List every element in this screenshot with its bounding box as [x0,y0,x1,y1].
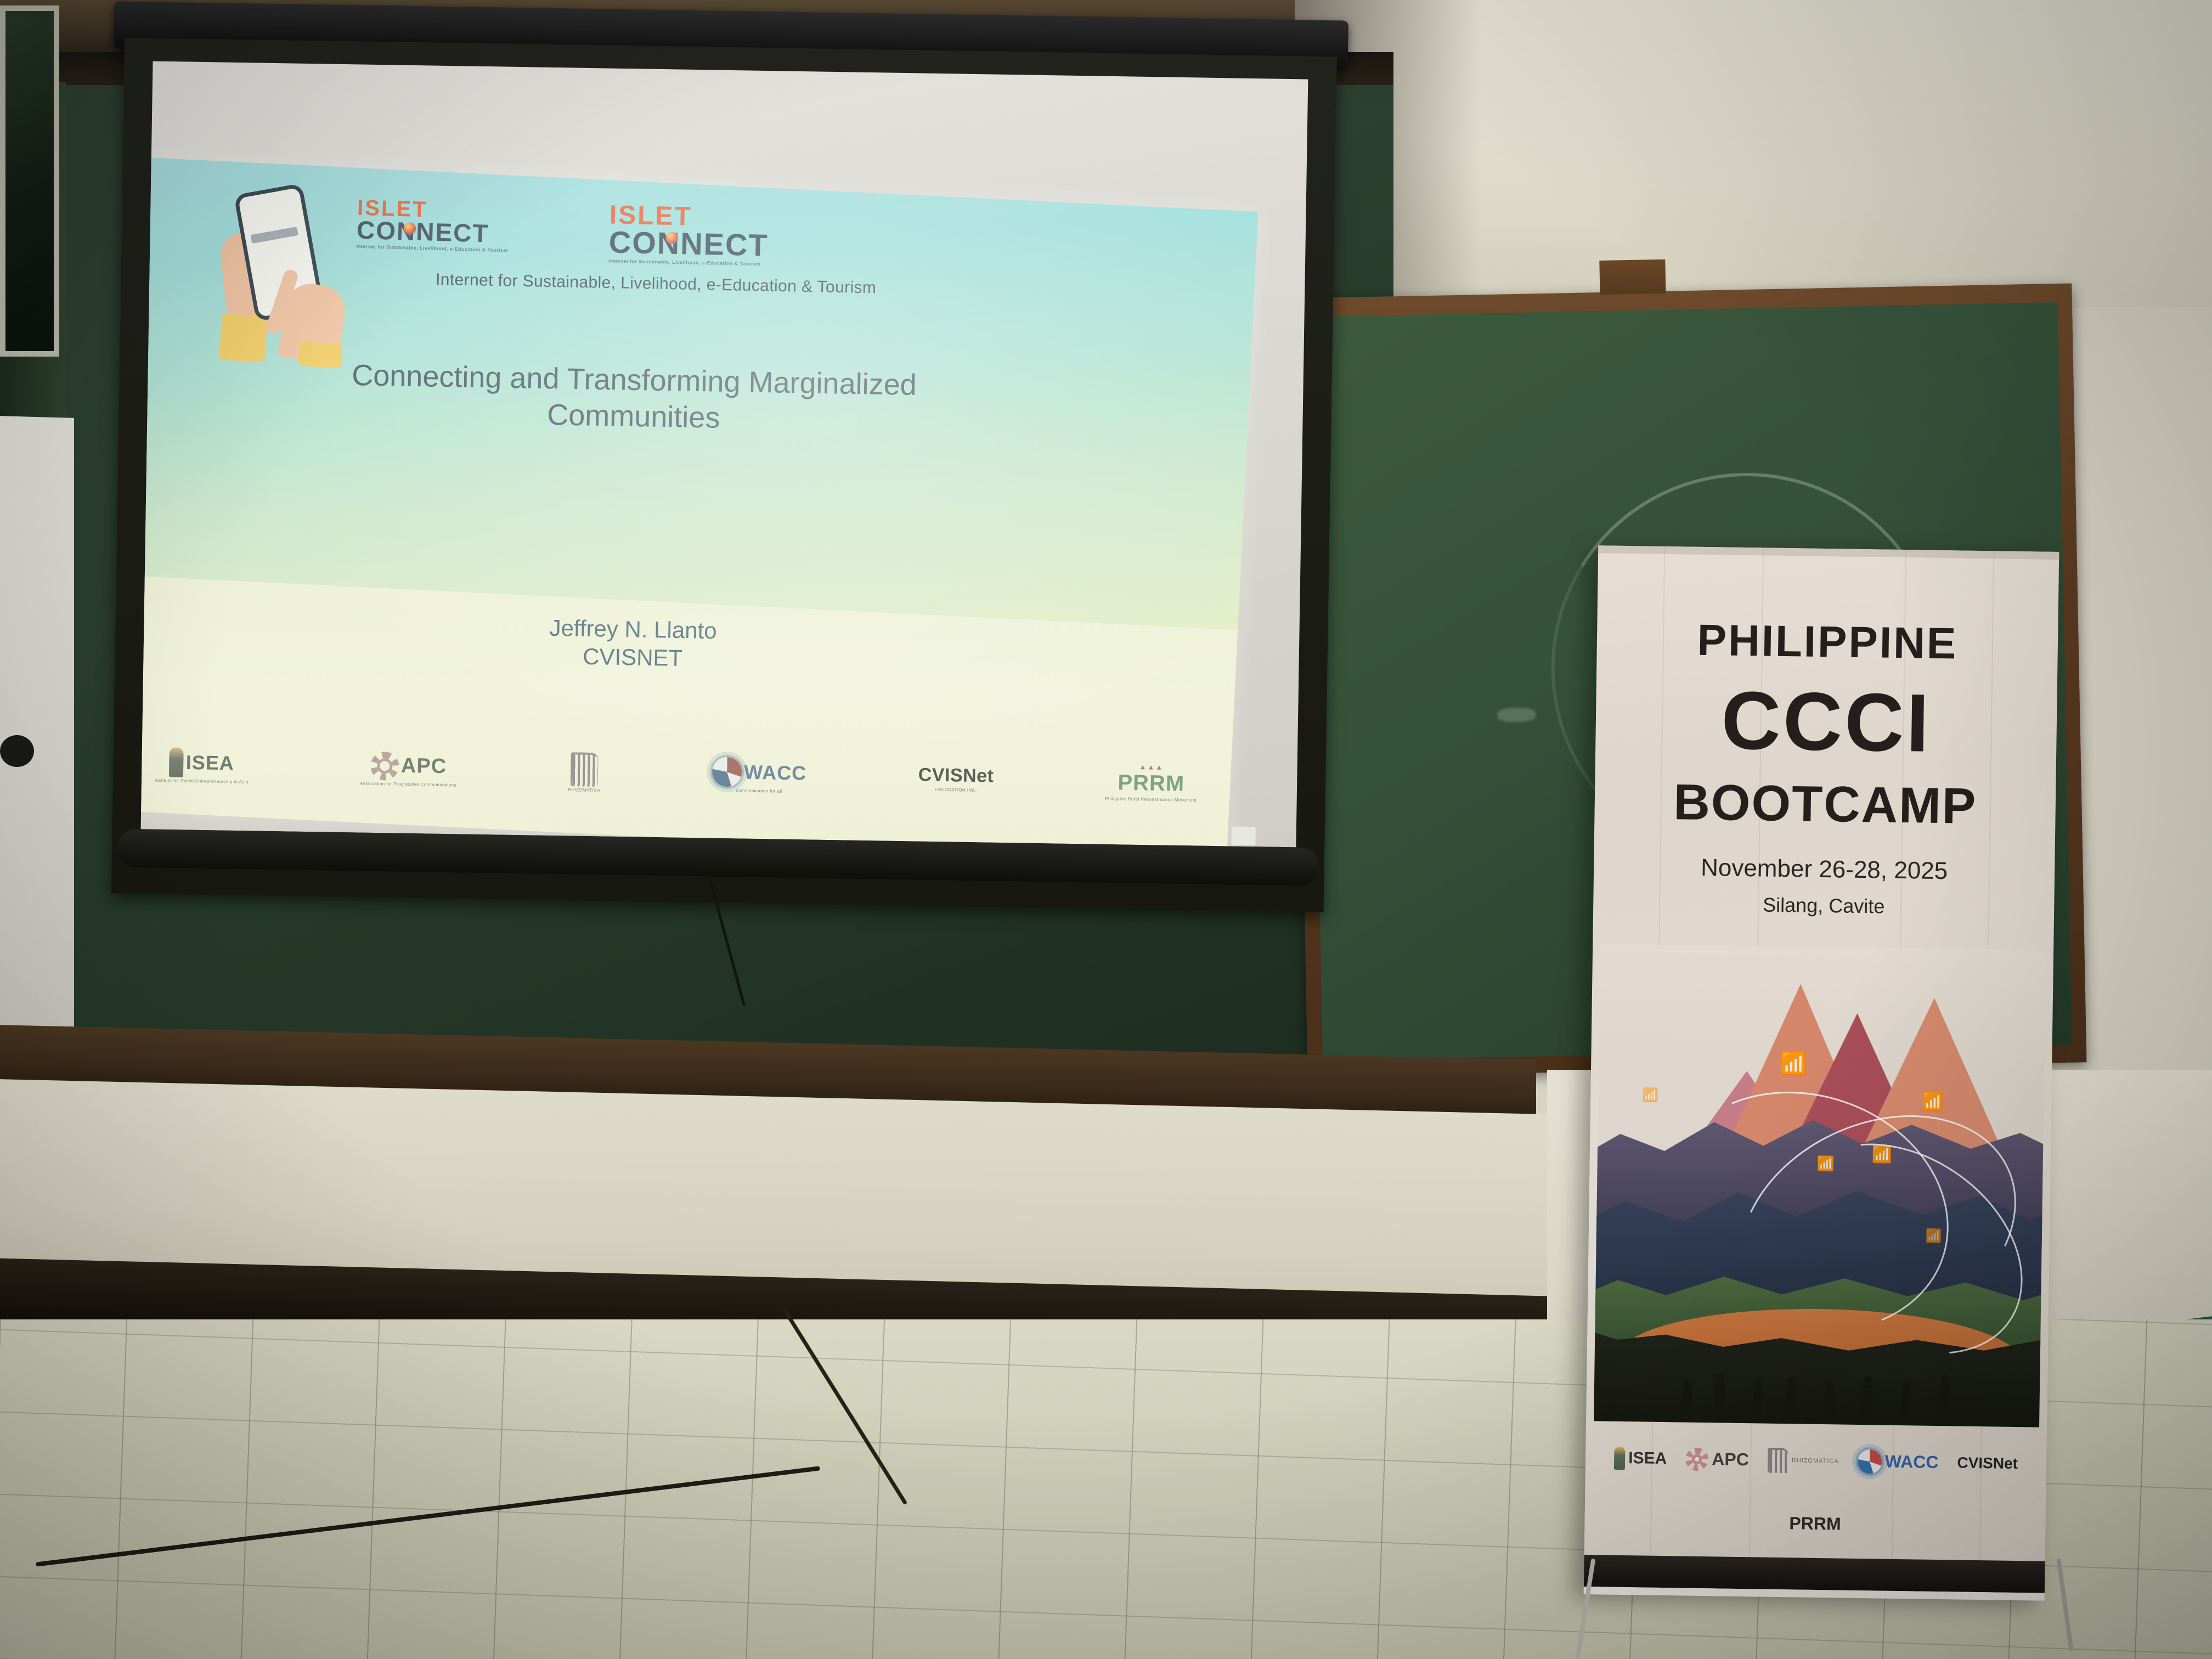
person-silhouette-7 [1901,1390,1911,1420]
wifi-icon-1: 📶 [1780,1051,1807,1077]
person-silhouette-4 [1786,1385,1796,1415]
prrm-label: PRRM [1118,770,1185,796]
wifi-icon-2: 📶 [1922,1091,1944,1113]
rollup-banner: PHILIPPINE CCCI BOOTCAMP November 26-28,… [1584,545,2059,1600]
isea-mark: ISEA [169,747,234,778]
wall-paper-sheet [0,416,74,1032]
banner-logo-prrm: PRRM [1789,1513,1841,1534]
isea-figure-icon [169,747,184,777]
banner-prrm-label: PRRM [1789,1513,1841,1534]
banner-title-line-3: BOOTCAMP [1594,776,2056,833]
person-silhouette-3 [1753,1388,1763,1418]
wall-frame-picture [0,5,59,357]
wall-frame-inner [5,11,54,351]
banner-apc-label: APC [1712,1449,1749,1470]
wall-dark-spot [0,735,34,767]
banner-title-line-1: PHILIPPINE [1596,617,2058,667]
gear-icon [370,751,399,780]
banner-sponsor-logos: ISEA APC RHIZOMATICA WACC CVISNet PRRM [1594,1423,2037,1558]
rhizomatica-glyph-icon-banner [1767,1447,1788,1473]
projector-screen-border: ISLET CONNECT Internet for Sustainable, … [111,38,1337,913]
wacc-sub: communication for all [736,788,782,793]
banner-logo-rhizomatica: RHIZOMATICA [1767,1447,1839,1474]
wifi-icon-5: 📶 [1642,1087,1658,1103]
prrm-dots-icon: ▲▲▲ [1139,763,1164,771]
banner-logo-apc: APC [1685,1447,1749,1471]
banner-title-line-2: CCCI [1595,677,2057,766]
connect-word: CONNECT [357,218,509,246]
cvisnet-label: CVISNet [918,764,994,787]
islet-connect-logo-primary: ISLET CONNECT Internet for Sustainable, … [356,198,509,253]
banner-logo-isea: ISEA [1614,1446,1667,1470]
projector-screen-surface: ISLET CONNECT Internet for Sustainable, … [141,61,1308,847]
person-silhouette-5 [1824,1389,1835,1419]
banner-artwork: 📶 📶 📶 📶 📶 📶 [1594,944,2046,1427]
logo-wacc: WACC communication for all [712,757,807,794]
isea-label: ISEA [185,751,234,775]
left-sleeve [219,314,267,362]
gear-icon-banner [1685,1447,1709,1471]
slide-title: Connecting and Transforming Marginalized… [249,356,1018,442]
wacc-mark: WACC [712,757,807,788]
prrm-sub: Philippine Rural Reconstruction Movement [1105,796,1197,803]
classroom-scene: ISLET CONNECT Internet for Sustainable, … [0,0,2212,1659]
person-silhouette-6 [1863,1384,1873,1414]
wacc-label: WACC [744,760,807,785]
banner-logo-wacc: WACC [1857,1449,1938,1474]
person-silhouette-8 [1939,1382,1950,1412]
banner-cvisnet-label: CVISNet [1957,1454,2018,1472]
apc-sub: Association for Progressive Communicatio… [360,781,456,787]
banner-rhizomatica-label: RHIZOMATICA [1792,1457,1839,1464]
apc-label: APC [401,754,447,778]
logo-apc: APC Association for Progressive Communic… [360,751,457,787]
projector-screen-tag [1231,827,1256,846]
person-silhouette-1 [1681,1387,1692,1417]
islet-connect-logo-secondary: ISLET CONNECT Internet for Sustainable, … [608,203,769,267]
chalkboard-right-mount-tab [1599,259,1666,295]
rhizomatica-label: RHIZOMATICA [568,787,600,793]
banner-wacc-label: WACC [1885,1452,1939,1472]
logo-cvisnet: CVISNet FOUNDATION INC. [918,764,994,793]
person-silhouette-2 [1714,1381,1725,1410]
logo-rhizomatica: RHIZOMATICA [568,752,601,793]
logo-isea: ISEA Institute for Social Entrepreneursh… [155,747,249,784]
globe-icon-banner [1857,1449,1882,1474]
banner-logo-cvisnet: CVISNet [1957,1454,2018,1472]
apc-mark: APC [370,751,447,781]
presentation-slide: ISLET CONNECT Internet for Sustainable, … [141,157,1259,847]
isea-sub: Institute for Social Entrepreneurship in… [155,777,249,784]
logo-prrm: ▲▲▲ PRRM Philippine Rural Reconstruction… [1105,762,1197,803]
cvisnet-sub: FOUNDATION INC. [935,787,977,793]
projector-screen: ISLET CONNECT Internet for Sustainable, … [111,6,1343,936]
globe-icon [712,757,742,787]
isea-figure-icon-banner [1614,1446,1626,1469]
rhizomatica-glyph-icon [571,752,599,787]
connect-word-2: CONNECT [608,228,769,260]
banner-isea-label: ISEA [1628,1449,1667,1468]
chalk-smudge [1497,707,1536,722]
slide-presenter: Jeffrey N. Llanto CVISNET [309,610,957,677]
